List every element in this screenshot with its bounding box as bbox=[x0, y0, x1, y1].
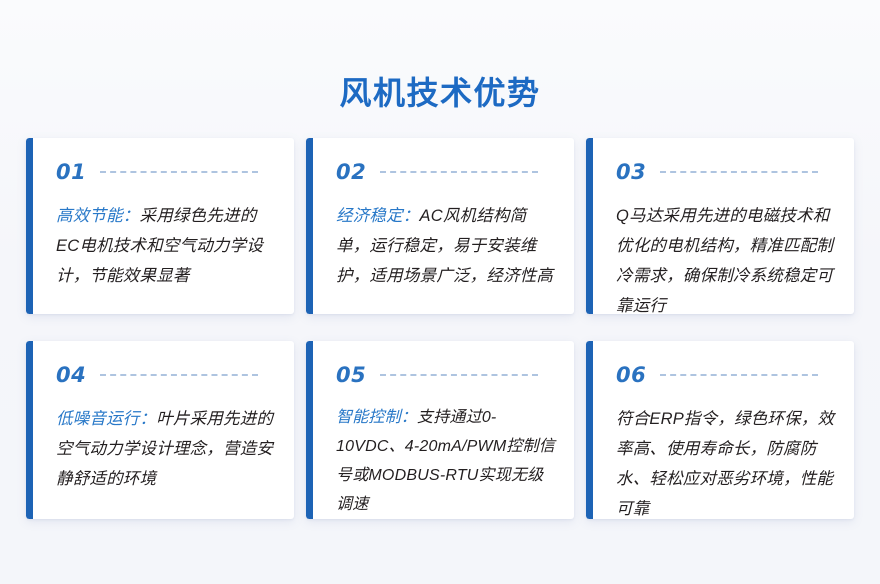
card-number: 01 bbox=[56, 162, 86, 183]
card-header: 02 bbox=[336, 160, 556, 184]
dashed-divider bbox=[380, 171, 538, 173]
feature-card: 03 Q马达采用先进的电磁技术和优化的电机结构，精准匹配制冷需求，确保制冷系统稳… bbox=[586, 138, 854, 314]
card-number: 06 bbox=[616, 365, 646, 386]
card-number: 04 bbox=[56, 365, 86, 386]
dashed-divider bbox=[660, 374, 818, 376]
card-body: 经济稳定：AC风机结构简单，运行稳定，易于安装维护，适用场景广泛，经济性高 bbox=[336, 201, 556, 291]
accent-bar bbox=[26, 341, 33, 519]
accent-bar bbox=[306, 138, 313, 314]
card-description: Q马达采用先进的电磁技术和优化的电机结构，精准匹配制冷需求，确保制冷系统稳定可靠… bbox=[616, 207, 833, 315]
feature-card: 02 经济稳定：AC风机结构简单，运行稳定，易于安装维护，适用场景广泛，经济性高 bbox=[306, 138, 574, 314]
card-body: 高效节能：采用绿色先进的EC电机技术和空气动力学设计，节能效果显著 bbox=[56, 201, 276, 291]
card-lead-term: 经济稳定： bbox=[336, 207, 420, 225]
feature-card: 06 符合ERP指令，绿色环保，效率高、使用寿命长，防腐防水、轻松应对恶劣环境，… bbox=[586, 341, 854, 519]
accent-bar bbox=[306, 341, 313, 519]
accent-bar bbox=[586, 138, 593, 314]
card-number: 02 bbox=[336, 162, 366, 183]
card-header: 01 bbox=[56, 160, 276, 184]
card-lead-term: 高效节能： bbox=[56, 207, 140, 225]
card-body: Q马达采用先进的电磁技术和优化的电机结构，精准匹配制冷需求，确保制冷系统稳定可靠… bbox=[616, 201, 836, 315]
page-title: 风机技术优势 bbox=[0, 74, 880, 112]
dashed-divider bbox=[380, 374, 538, 376]
card-body: 低噪音运行：叶片采用先进的空气动力学设计理念，营造安静舒适的环境 bbox=[56, 404, 276, 494]
card-header: 03 bbox=[616, 160, 836, 184]
dashed-divider bbox=[100, 374, 258, 376]
card-header: 04 bbox=[56, 363, 276, 387]
feature-card: 04 低噪音运行：叶片采用先进的空气动力学设计理念，营造安静舒适的环境 bbox=[26, 341, 294, 519]
accent-bar bbox=[586, 341, 593, 519]
card-number: 03 bbox=[616, 162, 646, 183]
dashed-divider bbox=[100, 171, 258, 173]
card-number: 05 bbox=[336, 365, 366, 386]
feature-highlights-page: 风机技术优势 01 高效节能：采用绿色先进的EC电机技术和空气动力学设计，节能效… bbox=[0, 0, 880, 584]
feature-card: 01 高效节能：采用绿色先进的EC电机技术和空气动力学设计，节能效果显著 bbox=[26, 138, 294, 314]
feature-card: 05 智能控制：支持通过0-10VDC、4-20mA/PWM控制信号或MODBU… bbox=[306, 341, 574, 519]
card-description: 符合ERP指令，绿色环保，效率高、使用寿命长，防腐防水、轻松应对恶劣环境，性能可… bbox=[616, 410, 834, 518]
feature-card-grid: 01 高效节能：采用绿色先进的EC电机技术和空气动力学设计，节能效果显著 02 … bbox=[26, 138, 854, 519]
card-header: 05 bbox=[336, 363, 556, 387]
card-lead-term: 低噪音运行： bbox=[56, 410, 156, 428]
card-header: 06 bbox=[616, 363, 836, 387]
card-body: 符合ERP指令，绿色环保，效率高、使用寿命长，防腐防水、轻松应对恶劣环境，性能可… bbox=[616, 404, 836, 520]
dashed-divider bbox=[660, 171, 818, 173]
accent-bar bbox=[26, 138, 33, 314]
card-lead-term: 智能控制： bbox=[336, 409, 417, 426]
card-body: 智能控制：支持通过0-10VDC、4-20mA/PWM控制信号或MODBUS-R… bbox=[336, 403, 556, 519]
